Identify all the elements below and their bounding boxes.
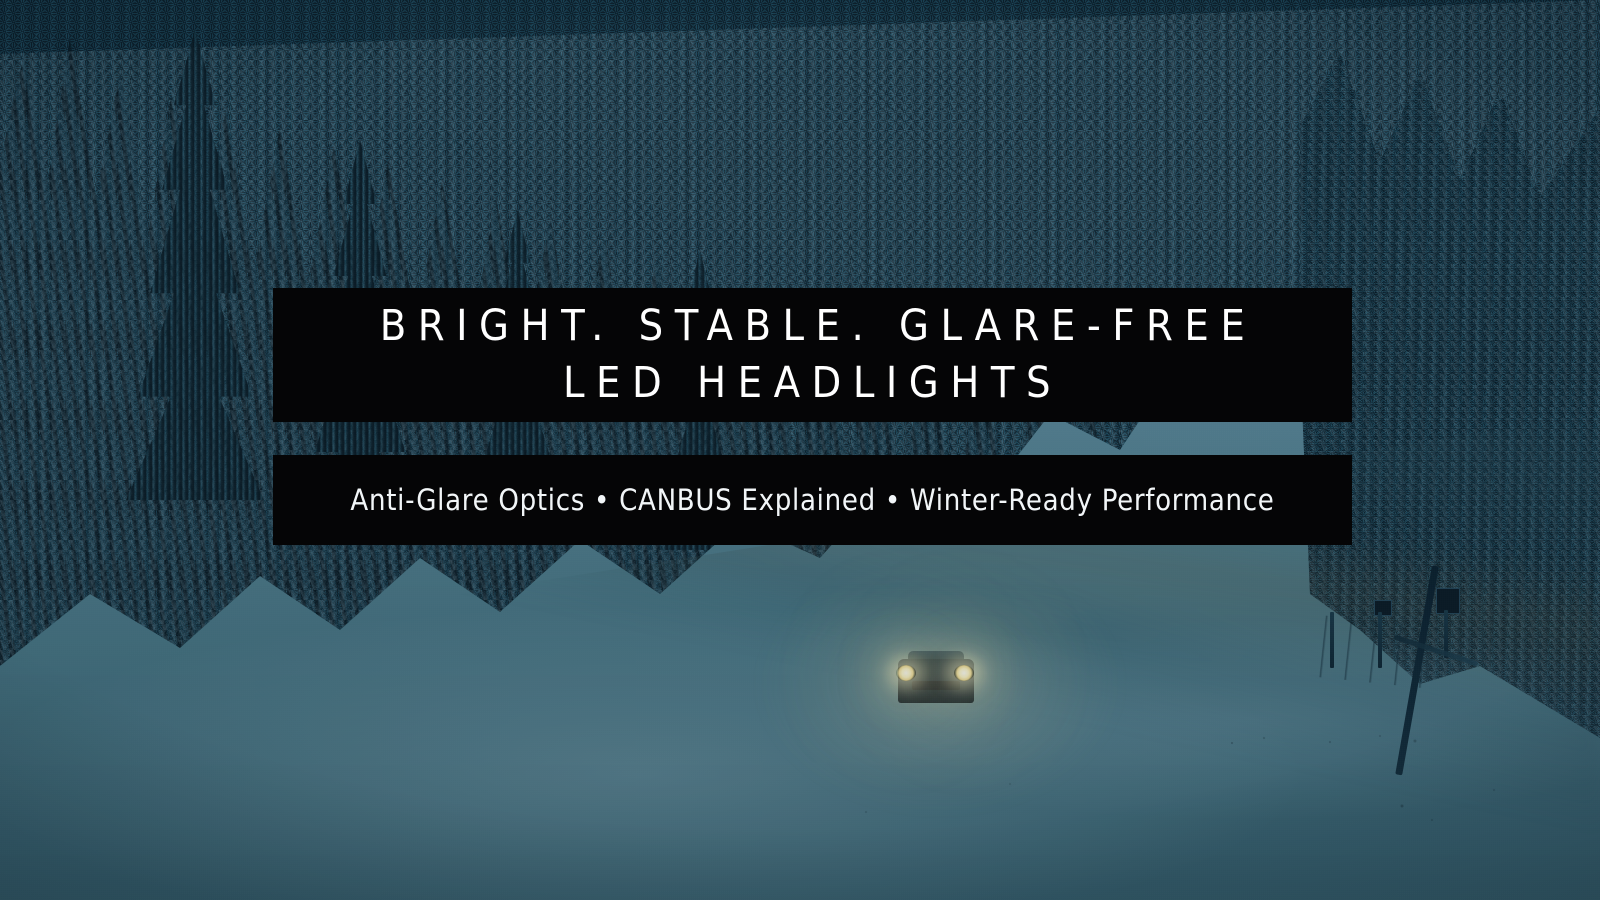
page-title: BRIGHT. STABLE. GLARE-FREE LED HEADLIGHT… <box>369 298 1257 412</box>
roadside-sign-small <box>1374 600 1392 616</box>
roadside-sign <box>1436 588 1460 614</box>
headlight-left-icon <box>896 665 916 681</box>
spruce-tree <box>1430 210 1560 590</box>
slide-canvas: BRIGHT. STABLE. GLARE-FREE LED HEADLIGHT… <box>0 0 1600 900</box>
vehicle-grille <box>912 681 960 690</box>
oncoming-vehicle <box>894 651 978 709</box>
headline-banner: BRIGHT. STABLE. GLARE-FREE LED HEADLIGHT… <box>273 288 1352 422</box>
subtitle-text: Anti-Glare Optics • CANBUS Explained • W… <box>350 483 1274 517</box>
spruce-tree <box>120 30 270 500</box>
subtitle-banner: Anti-Glare Optics • CANBUS Explained • W… <box>273 455 1352 545</box>
headlight-right-icon <box>954 665 974 681</box>
